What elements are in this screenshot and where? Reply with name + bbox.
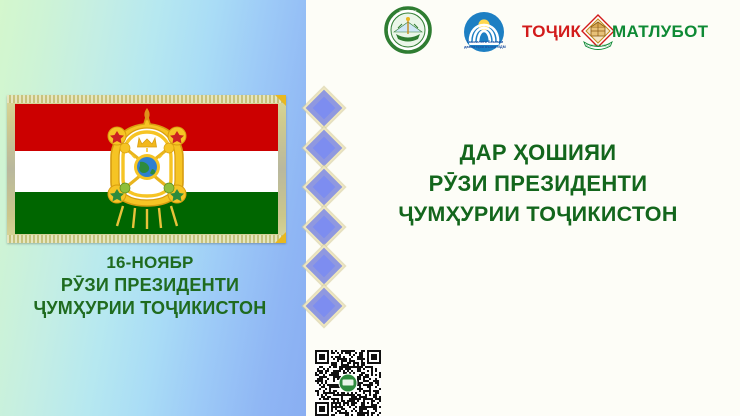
svg-text:DONISHGOHI: DONISHGOHI — [400, 9, 417, 13]
flag-caption-line-1: 16-НОЯБР — [0, 252, 300, 274]
tojikmatlubot-logo: ТОҶИК TOJIKMATLUBOT МАТЛУБОТ — [522, 12, 684, 54]
flag-caption-line-2: РӮЗИ ПРЕЗИДЕНТИ — [0, 274, 300, 297]
diamond-divider — [303, 93, 345, 321]
cis-logo-caption: Ташкилоти базавии давлатҳои аъзои ИДМ — [440, 40, 530, 51]
flag-caption: 16-НОЯБР РӮЗИ ПРЕЗИДЕНТИ ҶУМҲУРИИ ТОҶИКИ… — [0, 252, 300, 320]
diamond-ornament — [303, 285, 345, 327]
diamond-ornament — [303, 126, 345, 168]
tajikistan-presidential-flag — [7, 95, 286, 243]
logo-bar: DONISHGOHI Ташкилоти ба — [380, 4, 690, 58]
diamond-ornament — [303, 245, 345, 287]
tojikmatlubot-word-right: МАТЛУБОТ — [612, 22, 708, 42]
diamond-ornament — [303, 206, 345, 248]
page-title-line-3: ҶУМҲУРИИ ТОҶИКИСТОН — [340, 199, 736, 230]
tajikistan-emblem-icon — [95, 106, 199, 232]
diamond-ornament — [303, 166, 345, 208]
flag-corner-bottom-right — [275, 232, 286, 243]
tojikmatlubot-word-left: ТОҶИК — [522, 22, 581, 42]
qr-code-center-logo — [339, 374, 358, 393]
page-title-line-1: ДАР ҲОШИЯИ — [340, 137, 736, 168]
flag-corner-top-right — [275, 95, 286, 106]
svg-text:TOJIKMATLUBOT: TOJIKMATLUBOT — [586, 43, 611, 47]
university-seal-icon: DONISHGOHI — [384, 6, 432, 54]
qr-code[interactable] — [315, 350, 381, 416]
flag-caption-line-3: ҶУМҲУРИИ ТОҶИКИСТОН — [0, 297, 300, 320]
poster-canvas: 16-НОЯБР РӮЗИ ПРЕЗИДЕНТИ ҶУМҲУРИИ ТОҶИКИ… — [0, 0, 740, 416]
page-title: ДАР ҲОШИЯИ РӮЗИ ПРЕЗИДЕНТИ ҶУМҲУРИИ ТОҶИ… — [340, 137, 736, 230]
diamond-ornament — [303, 87, 345, 129]
cis-logo-caption-line-2: давлатҳои аъзои ИДМ — [440, 45, 530, 50]
page-title-line-2: РӮЗИ ПРЕЗИДЕНТИ — [340, 168, 736, 199]
flag-face — [15, 104, 278, 234]
